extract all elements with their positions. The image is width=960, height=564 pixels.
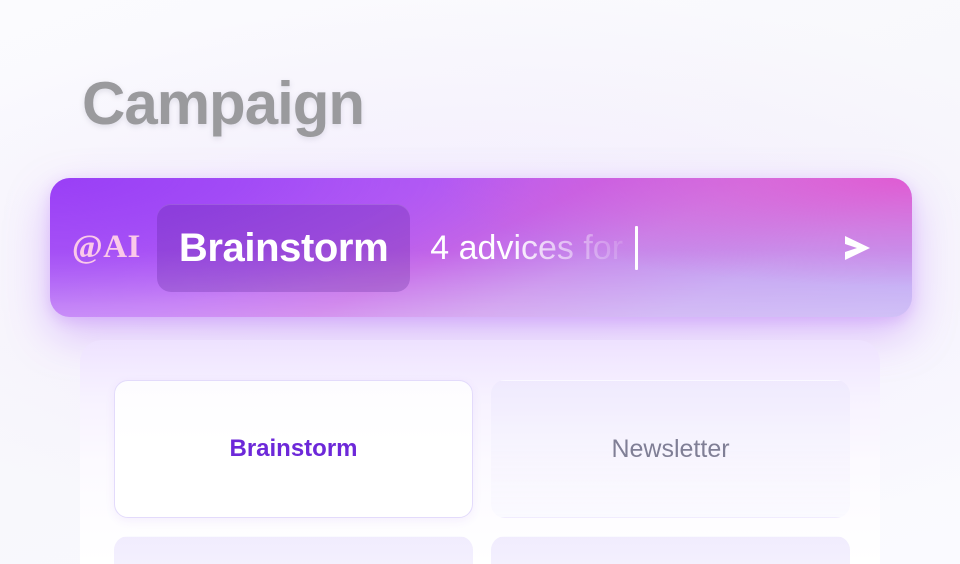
ai-prompt-bar[interactable]: @AI Brainstorm 4 advices for bbox=[50, 178, 912, 317]
prompt-typed-text: 4 advices for bbox=[430, 231, 623, 265]
option-card-row2-left[interactable] bbox=[114, 536, 473, 564]
app-root: Campaign @AI Brainstorm 4 advices for bbox=[0, 0, 960, 564]
option-card-newsletter[interactable]: Newsletter bbox=[491, 380, 850, 518]
option-card-row2-right[interactable] bbox=[491, 536, 850, 564]
option-card-label: Newsletter bbox=[611, 437, 729, 462]
option-card-brainstorm[interactable]: Brainstorm bbox=[114, 380, 473, 518]
text-caret bbox=[635, 226, 638, 270]
option-card-label: Brainstorm bbox=[229, 437, 357, 461]
option-card-grid: Brainstorm Newsletter bbox=[114, 380, 850, 564]
command-chip-label: Brainstorm bbox=[179, 228, 388, 268]
send-button[interactable] bbox=[830, 221, 884, 275]
results-panel: Brainstorm Newsletter bbox=[80, 340, 880, 564]
prompt-input[interactable]: 4 advices for bbox=[430, 226, 818, 270]
ai-mention-tag[interactable]: @AI bbox=[72, 229, 141, 266]
send-icon bbox=[837, 228, 877, 268]
prompt-bar-content: @AI Brainstorm 4 advices for bbox=[50, 178, 912, 317]
page-title: Campaign bbox=[82, 74, 364, 134]
command-chip-brainstorm[interactable]: Brainstorm bbox=[157, 204, 410, 292]
